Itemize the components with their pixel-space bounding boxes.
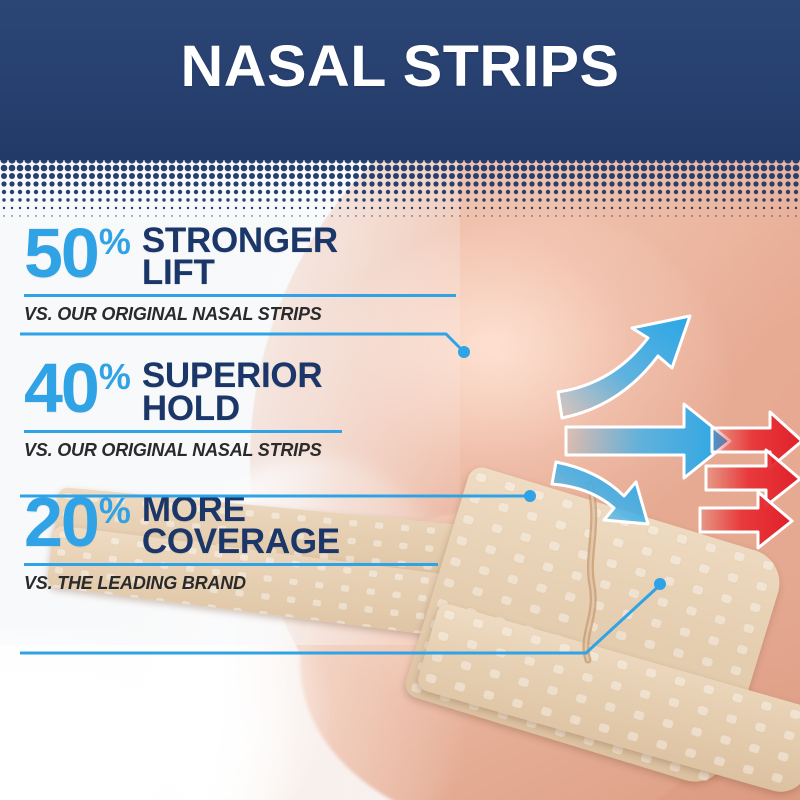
stat-headline-3: 20 % MORE COVERAGE xyxy=(0,491,470,558)
stat-rule-3 xyxy=(24,563,438,566)
stat-percent-3: % xyxy=(99,493,131,529)
stat-rule-1 xyxy=(24,294,456,297)
stat-number-2: 40 xyxy=(24,357,98,420)
stat-label-2-line2: HOLD xyxy=(142,389,240,428)
stat-label-2: SUPERIOR HOLD xyxy=(142,360,322,424)
page-title: NASAL STRIPS xyxy=(0,38,800,96)
stat-block-2: 40 % SUPERIOR HOLD VS. OUR ORIGINAL NASA… xyxy=(0,357,470,460)
stat-headline-2: 40 % SUPERIOR HOLD xyxy=(0,357,470,424)
header-banner: NASAL STRIPS xyxy=(0,0,800,160)
stat-label-3: MORE COVERAGE xyxy=(142,494,340,558)
stat-note-1: VS. OUR ORIGINAL NASAL STRIPS xyxy=(24,304,470,325)
infographic-poster: 50 % STRONGER LIFT VS. OUR ORIGINAL NASA… xyxy=(0,0,800,800)
stat-note-3: VS. THE LEADING BRAND xyxy=(24,573,470,594)
stat-headline-1: 50 % STRONGER LIFT xyxy=(0,222,470,289)
stat-note-2: VS. OUR ORIGINAL NASAL STRIPS xyxy=(24,440,470,461)
stat-number-3: 20 xyxy=(24,491,98,554)
stat-block-3: 20 % MORE COVERAGE VS. THE LEADING BRAND xyxy=(0,491,470,594)
stat-column: 50 % STRONGER LIFT VS. OUR ORIGINAL NASA… xyxy=(0,160,470,598)
stat-label-1-line2: LIFT xyxy=(142,253,215,292)
stat-percent-2: % xyxy=(99,359,131,395)
stat-label-3-line2: COVERAGE xyxy=(142,522,340,561)
stat-label-1: STRONGER LIFT xyxy=(142,225,338,289)
bottom-white-wedge xyxy=(0,630,330,800)
stat-number-1: 50 xyxy=(24,222,98,285)
stat-block-1: 50 % STRONGER LIFT VS. OUR ORIGINAL NASA… xyxy=(0,222,470,325)
stat-rule-2 xyxy=(24,430,342,433)
stat-percent-1: % xyxy=(99,224,131,260)
